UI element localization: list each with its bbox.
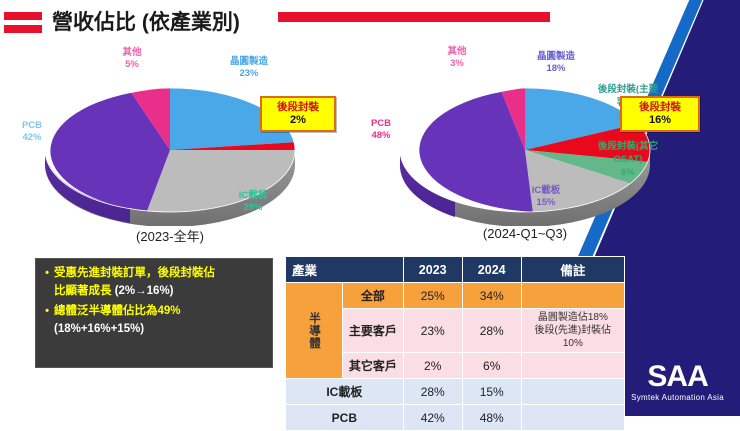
table-cell-2023: 25% [403,283,462,309]
note-bullet-1-text: 受惠先進封裝訂單，後段封裝佔 [54,265,268,282]
note-bullet-2-text: 總體泛半導體佔比為49% [54,303,268,320]
pie-chart-2023-caption: (2023-全年) [20,226,320,245]
callout-2023-backend-packaging: 後段封裝 2% [260,96,336,132]
note-bullet-2: • 總體泛半導體佔比為49% [40,303,268,320]
table-row: 半導體 全部 25% 34% [286,283,625,309]
note-bullet-1-cont-text: 比顯著成長 [54,285,112,297]
table-cell-name: 其它客戶 [343,353,404,379]
pie-label-2024-other: 其他 3% [431,46,483,70]
table-header-row: 產業 2023 2024 備註 [286,257,625,283]
table-cell-2023: 2% [403,353,462,379]
company-logo: SAA Symtek Automation Asia [631,362,724,402]
table-cell-name: PCB [286,405,404,431]
pie-label-2023-ic-substrate: IC載板 28% [220,190,286,214]
bullet-icon-2: • [40,303,54,320]
table-header-remark: 備註 [521,257,624,283]
table-header-2024: 2024 [462,257,521,283]
logo-tagline: Symtek Automation Asia [631,393,724,402]
table-header-2023: 2023 [403,257,462,283]
table-cell-2024: 34% [462,283,521,309]
pie-chart-2024: 其他 3% 晶圓製造 18% 後段封裝(主要客戶) 10% 後段封裝(其它OSA… [375,48,705,248]
table-row: IC載板 28% 15% [286,379,625,405]
table-cell-name: 全部 [343,283,404,309]
note-bullet-1-value: (2%→16%) [115,285,174,297]
remark-line-1: 晶圓製造佔18% [526,311,620,324]
table-cell-2024: 48% [462,405,521,431]
pie-chart-2024-caption: (2024-Q1~Q3) [375,226,675,241]
title-red-bar-top-icon [4,12,42,20]
table-cell-2024: 6% [462,353,521,379]
pie-label-2024-pcb: PCB 48% [357,118,405,142]
table-cell-remark [521,379,624,405]
table-header-industry: 產業 [286,257,404,283]
logo-wordmark: SAA [631,362,724,392]
pie-label-2023-pcb: PCB 42% [8,120,56,144]
table-cell-name: 主要客戶 [343,309,404,353]
table-cell-2023: 28% [403,379,462,405]
remark-line-2: 後段(先進)封裝佔10% [526,324,620,350]
pie-label-2024-wafer: 晶圓製造 18% [523,51,589,75]
title-red-bar-bottom-icon [4,25,42,33]
bullet-icon: • [40,265,54,282]
pie-label-2024-backend-other-osat: 後段封裝(其它OSAT) 6% [597,140,659,179]
industry-revenue-table: 產業 2023 2024 備註 半導體 全部 25% 34% 主要客戶 23% … [285,256,625,431]
note-bullet-1-continued: 比顯著成長 (2%→16%) [54,283,268,300]
table-cell-2023: 23% [403,309,462,353]
slide-header: 營收佔比 (依產業別) [0,4,740,38]
pie-label-2023-other: 其他 5% [106,47,158,71]
pie-chart-2023: 其他 5% 晶圓製造 23% IC載板 28% PCB 42% 後段封裝 2% … [20,48,350,248]
callout-2024-backend-packaging: 後段封裝 16% [620,96,700,132]
note-bullet-2-continued: (18%+16%+15%) [54,321,268,338]
table-group-label-semiconductor: 半導體 [286,283,343,379]
note-bullet-1: • 受惠先進封裝訂單，後段封裝佔 [40,265,268,282]
table-cell-remark [521,283,624,309]
summary-note-box: • 受惠先進封裝訂單，後段封裝佔 比顯著成長 (2%→16%) • 總體泛半導體… [35,258,273,368]
table-cell-remark [521,353,624,379]
table-cell-2024: 28% [462,309,521,353]
pie-label-2024-ic-substrate: IC載板 15% [515,185,577,209]
table-cell-remark [521,405,624,431]
table-cell-remark: 晶圓製造佔18% 後段(先進)封裝佔10% [521,309,624,353]
pie-label-2023-wafer: 晶圓製造 23% [216,56,282,80]
table-row: PCB 42% 48% [286,405,625,431]
table-cell-name: IC載板 [286,379,404,405]
table-cell-2023: 42% [403,405,462,431]
table-cell-2024: 15% [462,379,521,405]
page-title: 營收佔比 (依產業別) [52,6,240,36]
title-red-rule [278,12,550,22]
